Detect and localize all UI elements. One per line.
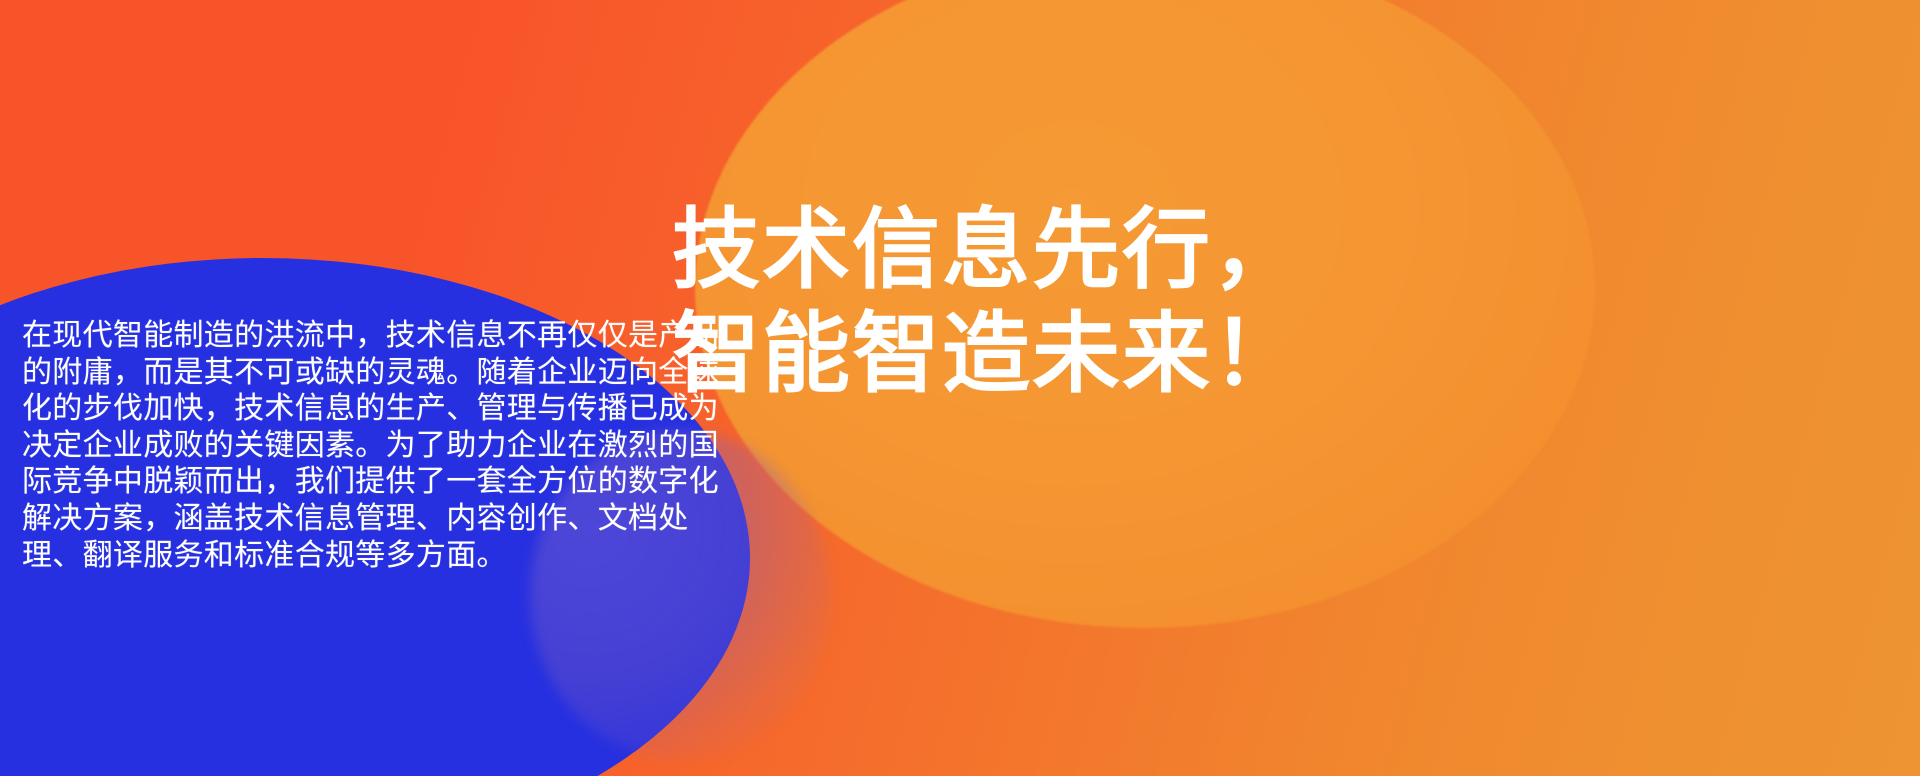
headline: 技术信息先行， 智能智造未来！ bbox=[672, 198, 1302, 406]
headline-line-2: 智能智造未来！ bbox=[672, 302, 1302, 406]
headline-line-1: 技术信息先行， bbox=[672, 198, 1302, 302]
promo-banner: 技术信息先行， 智能智造未来！ 在现代智能制造的洪流中，技术信息不再仅仅是产品的… bbox=[0, 0, 1920, 776]
body-paragraph: 在现代智能制造的洪流中，技术信息不再仅仅是产品的附庸，而是其不可或缺的灵魂。随着… bbox=[22, 318, 722, 574]
